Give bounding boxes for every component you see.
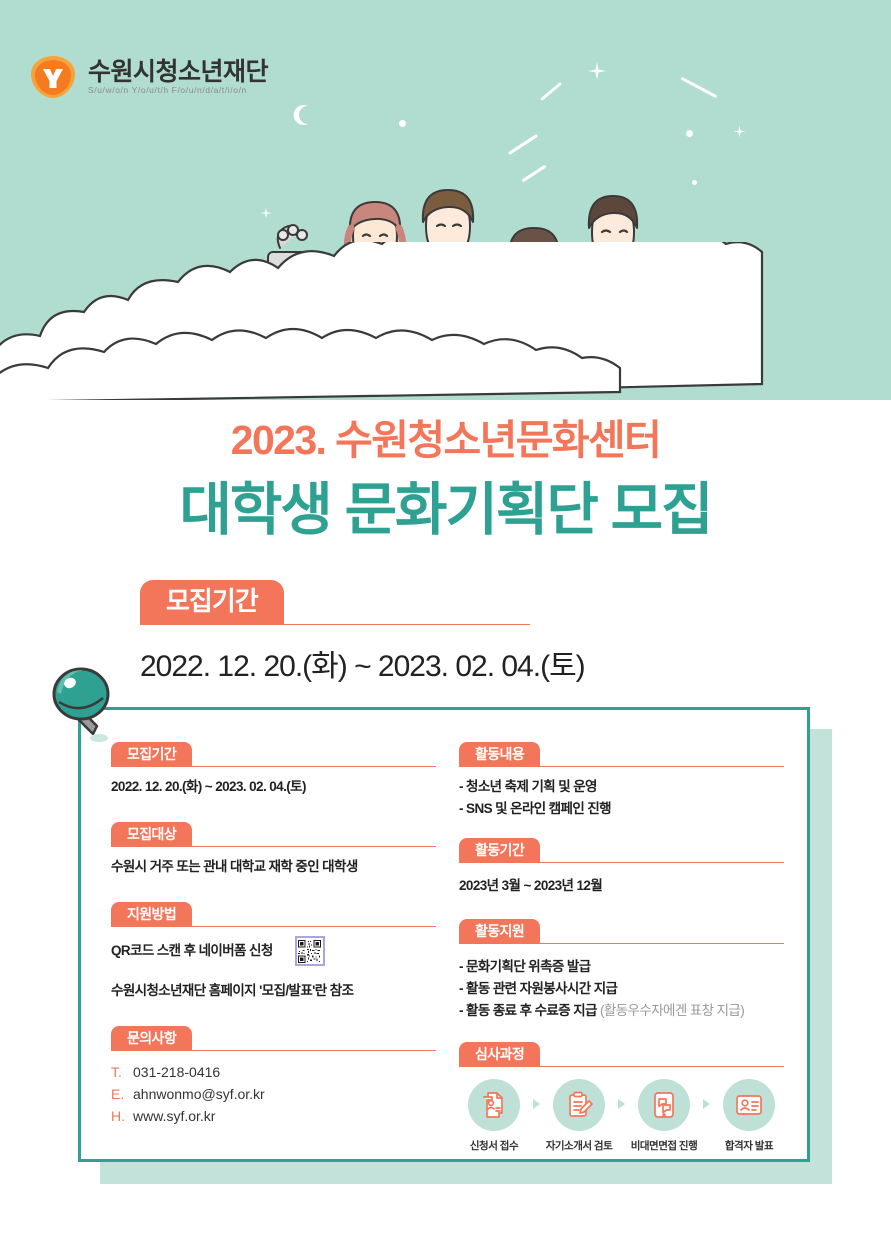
- contact-phone: T. 031-218-0416: [111, 1062, 437, 1084]
- section-activity-period: 활동기간 2023년 3월 ~ 2023년 12월: [459, 838, 785, 897]
- contact-value: 031-218-0416: [133, 1062, 220, 1084]
- sparkle-icon: [732, 124, 747, 139]
- arrow-icon: [533, 1099, 540, 1109]
- qr-instruction-text: QR코드 스캔 후 네이버폼 신청: [111, 940, 273, 962]
- poster-title: 대학생 문화기획단 모집: [0, 479, 891, 542]
- pushpin-icon: [41, 658, 133, 758]
- recruitment-period-dates: 2022. 12. 20.(화) ~ 2023. 02. 04.(토): [140, 641, 891, 685]
- y-logo-icon: [30, 55, 76, 99]
- process-step-3: 비대면면접 진행: [629, 1079, 699, 1153]
- recruitment-period-badge: 모집기간: [140, 580, 284, 625]
- recruitment-period-header: 모집기간 2022. 12. 20.(화) ~ 2023. 02. 04.(토): [0, 580, 891, 685]
- support-line: - 활동 관련 자원봉사시간 지급: [459, 978, 785, 1000]
- process-step-4: 합격자 발표: [714, 1079, 784, 1153]
- support-line-main: - 활동 종료 후 수료증 지급: [459, 1003, 597, 1018]
- phone-chat-icon: [649, 1090, 679, 1120]
- star-dot: [686, 130, 693, 137]
- documents-person-icon: [479, 1090, 509, 1120]
- process-steps: 신청서 접수: [459, 1079, 785, 1153]
- section-activities: 활동내용 - 청소년 축제 기획 및 운영 - SNS 및 온라인 캠페인 진행: [459, 742, 785, 820]
- contact-value: www.syf.or.kr: [133, 1106, 215, 1128]
- section-eligibility: 모집대상 수원시 거주 또는 관내 대학교 재학 중인 대학생: [111, 822, 437, 878]
- box-main: 모집기간 2022. 12. 20.(화) ~ 2023. 02. 04.(토)…: [78, 707, 810, 1162]
- qr-code[interactable]: [295, 936, 325, 966]
- step-label: 신청서 접수: [459, 1138, 529, 1153]
- hero-banner: 수원시청소년재단 S/u/w/o/n Y/o/u/t/h F/o/u/n/d/a…: [0, 0, 891, 400]
- star-dot: [692, 180, 697, 185]
- streak-line: [540, 82, 562, 101]
- logo-title: 수원시청소년재단: [88, 60, 268, 85]
- step-label: 비대면면접 진행: [629, 1138, 699, 1153]
- cloud-decoration: [0, 242, 891, 400]
- organization-logo: 수원시청소년재단 S/u/w/o/n Y/o/u/t/h F/o/u/n/d/a…: [30, 55, 268, 99]
- section-badge: 지원방법: [111, 902, 192, 927]
- section-activity-support: 활동지원 - 문화기획단 위촉증 발급 - 활동 관련 자원봉사시간 지급 - …: [459, 919, 785, 1022]
- qr-apply-row: QR코드 스캔 후 네이버폼 신청: [111, 936, 437, 966]
- section-badge: 문의사항: [111, 1026, 192, 1051]
- sparkle-icon: [586, 60, 608, 82]
- arrow-icon: [618, 1099, 625, 1109]
- step-label: 합격자 발표: [714, 1138, 784, 1153]
- section-badge: 심사과정: [459, 1042, 540, 1067]
- process-step-2: 자기소개서 검토: [544, 1079, 614, 1153]
- clipboard-pencil-icon: [564, 1090, 594, 1120]
- poster-subtitle: 2023. 수원청소년문화센터: [0, 418, 891, 463]
- section-contact: 문의사항 T. 031-218-0416 E. ahnwonmo@syf.or.…: [111, 1026, 437, 1127]
- star-dot: [399, 120, 406, 127]
- support-line: - 문화기획단 위촉증 발급: [459, 956, 785, 978]
- section-body: - 문화기획단 위촉증 발급 - 활동 관련 자원봉사시간 지급 - 활동 종료…: [459, 956, 785, 1022]
- section-body: - 청소년 축제 기획 및 운영 - SNS 및 온라인 캠페인 진행: [459, 776, 785, 820]
- activity-line: - SNS 및 온라인 캠페인 진행: [459, 798, 785, 820]
- step-circle: [723, 1079, 775, 1131]
- details-box: 모집기간 2022. 12. 20.(화) ~ 2023. 02. 04.(토)…: [78, 707, 810, 1162]
- support-line: - 활동 종료 후 수료증 지급 (활동우수자에겐 표창 지급): [459, 1000, 785, 1022]
- process-step-1: 신청서 접수: [459, 1079, 529, 1153]
- section-body: 수원시 거주 또는 관내 대학교 재학 중인 대학생: [111, 856, 437, 878]
- left-column: 모집기간 2022. 12. 20.(화) ~ 2023. 02. 04.(토)…: [111, 742, 437, 1167]
- arrow-icon: [703, 1099, 710, 1109]
- step-label: 자기소개서 검토: [544, 1138, 614, 1153]
- contact-key: T.: [111, 1062, 124, 1084]
- section-body: 2022. 12. 20.(화) ~ 2023. 02. 04.(토): [111, 776, 437, 798]
- section-body: 수원시청소년재단 홈페이지 '모집/발표'란 참조: [111, 980, 437, 1002]
- section-badge: 활동지원: [459, 919, 540, 944]
- right-column: 활동내용 - 청소년 축제 기획 및 운영 - SNS 및 온라인 캠페인 진행…: [459, 742, 785, 1167]
- step-circle: [638, 1079, 690, 1131]
- step-circle: [553, 1079, 605, 1131]
- id-card-icon: [734, 1090, 764, 1120]
- section-badge: 활동내용: [459, 742, 540, 767]
- section-badge: 모집대상: [111, 822, 192, 847]
- section-selection-process: 심사과정: [459, 1042, 785, 1153]
- contact-key: E.: [111, 1084, 124, 1106]
- section-badge: 활동기간: [459, 838, 540, 863]
- logo-subtitle: S/u/w/o/n Y/o/u/t/h F/o/u/n/d/a/t/i/o/n: [88, 86, 268, 95]
- contact-email[interactable]: E. ahnwonmo@syf.or.kr: [111, 1084, 437, 1106]
- streak-line: [681, 77, 718, 98]
- crescent-moon-icon: [292, 104, 314, 126]
- poster-titles: 2023. 수원청소년문화센터 대학생 문화기획단 모집: [0, 418, 891, 542]
- section-how-to-apply: 지원방법 QR코드 스캔 후 네이버폼 신청: [111, 902, 437, 1002]
- contact-key: H.: [111, 1106, 124, 1128]
- contact-homepage[interactable]: H. www.syf.or.kr: [111, 1106, 437, 1128]
- section-body: 2023년 3월 ~ 2023년 12월: [459, 875, 785, 897]
- support-line-note: (활동우수자에겐 표창 지급): [600, 1003, 744, 1018]
- contact-value: ahnwonmo@syf.or.kr: [133, 1084, 265, 1106]
- activity-line: - 청소년 축제 기획 및 운영: [459, 776, 785, 798]
- section-recruitment-period: 모집기간 2022. 12. 20.(화) ~ 2023. 02. 04.(토): [111, 742, 437, 798]
- step-circle: [468, 1079, 520, 1131]
